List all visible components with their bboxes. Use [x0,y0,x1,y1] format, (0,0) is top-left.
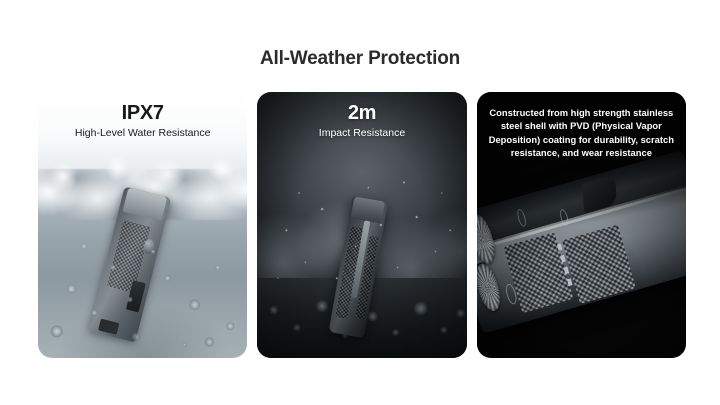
card-subtitle-impact-resistance: Impact Resistance [257,127,466,141]
device-knob-lower [477,261,505,313]
feature-card-water-resistance[interactable]: IPX7 High-Level Water Resistance [38,92,247,358]
card-heading-ipx7: IPX7 [38,102,247,125]
card-caption-material: Constructed from high strength stainless… [477,92,686,159]
card-caption-water: IPX7 High-Level Water Resistance [38,92,247,141]
feature-card-material-construction[interactable]: Constructed from high strength stainless… [477,92,686,358]
card-caption-impact: 2m Impact Resistance [257,92,466,141]
device-steel-closeup-illustration [477,150,686,335]
card-body-material-description: Constructed from high strength stainless… [477,106,686,159]
feature-card-row: IPX7 High-Level Water Resistance 2m Impa… [38,92,686,358]
device-grille-panel-b [562,224,636,304]
card-subtitle-water-resistance: High-Level Water Resistance [38,127,247,141]
all-weather-protection-section: All-Weather Protection IPX7 High-Level W… [0,0,720,405]
page-title: All-Weather Protection [0,48,720,70]
feature-card-impact-resistance[interactable]: 2m Impact Resistance [257,92,466,358]
card-heading-2m: 2m [257,102,466,125]
